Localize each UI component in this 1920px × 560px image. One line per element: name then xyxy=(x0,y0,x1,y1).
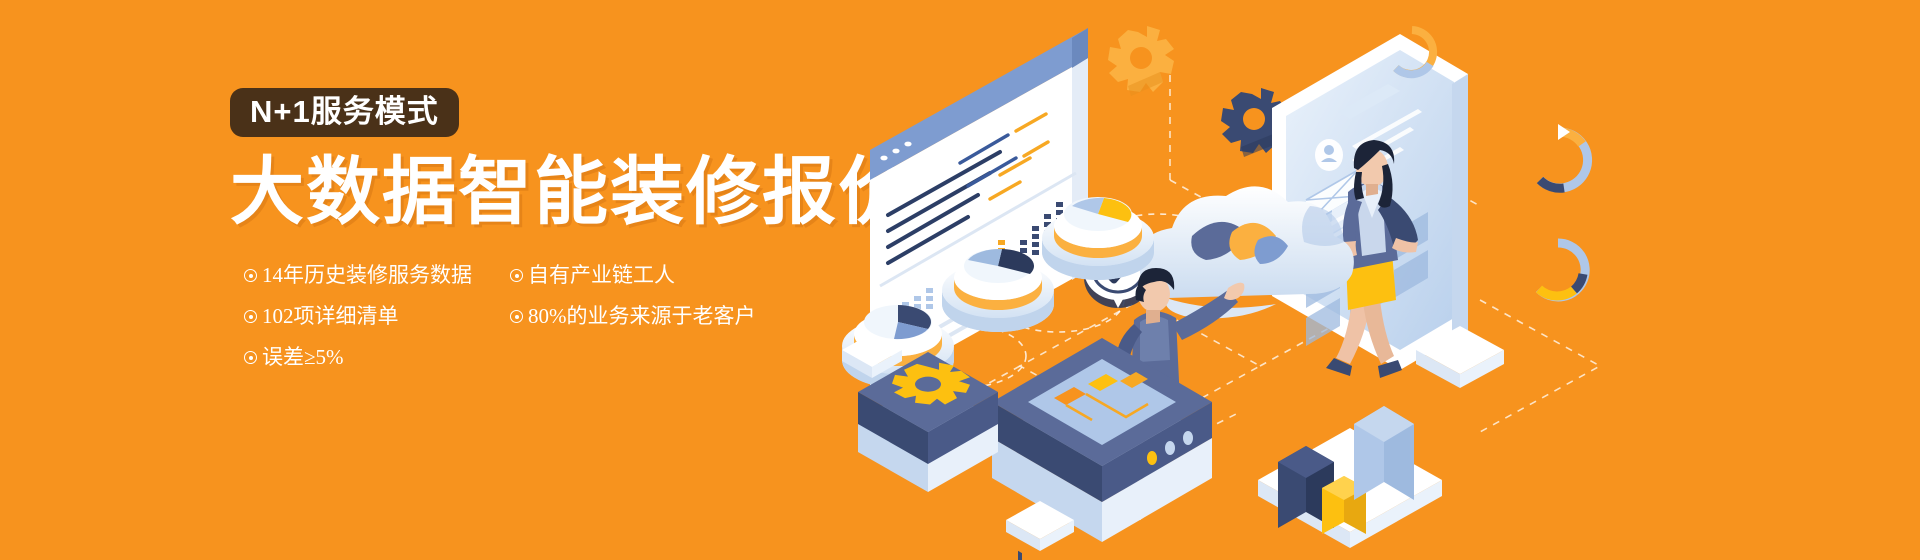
list-item: 80%的业务来源于老客户 xyxy=(510,306,756,327)
bullet-column-right: 自有产业链工人 80%的业务来源于老客户 xyxy=(510,265,756,347)
list-item: 误差≥5% xyxy=(244,347,472,368)
bar-column-group xyxy=(1258,406,1442,548)
gear-orange xyxy=(1108,26,1174,96)
list-item: 14年历史装修服务数据 xyxy=(244,265,472,286)
list-item-label: 80%的业务来源于老客户 xyxy=(528,306,756,327)
circled-dot-icon xyxy=(244,269,257,282)
list-item: 自有产业链工人 xyxy=(510,265,756,286)
list-item-label: 误差≥5% xyxy=(262,347,344,368)
circled-dot-icon xyxy=(510,310,523,323)
list-item-label: 102项详细清单 xyxy=(262,306,399,327)
service-mode-badge: N+1服务模式 xyxy=(230,88,459,137)
list-item-label: 14年历史装修服务数据 xyxy=(262,265,472,286)
circled-dot-icon xyxy=(510,269,523,282)
promo-banner: N+1服务模式 大数据智能装修报价 14年历史装修服务数据 102项详细清单 误… xyxy=(0,0,1920,560)
isometric-big-data-illustration xyxy=(840,0,1920,560)
list-item: 102项详细清单 xyxy=(244,306,472,327)
server-front-bars xyxy=(1018,551,1082,560)
circled-dot-icon xyxy=(244,351,257,364)
list-item-label: 自有产业链工人 xyxy=(528,265,675,286)
bullet-column-left: 14年历史装修服务数据 102项详细清单 误差≥5% xyxy=(244,265,472,388)
circled-dot-icon xyxy=(244,310,257,323)
